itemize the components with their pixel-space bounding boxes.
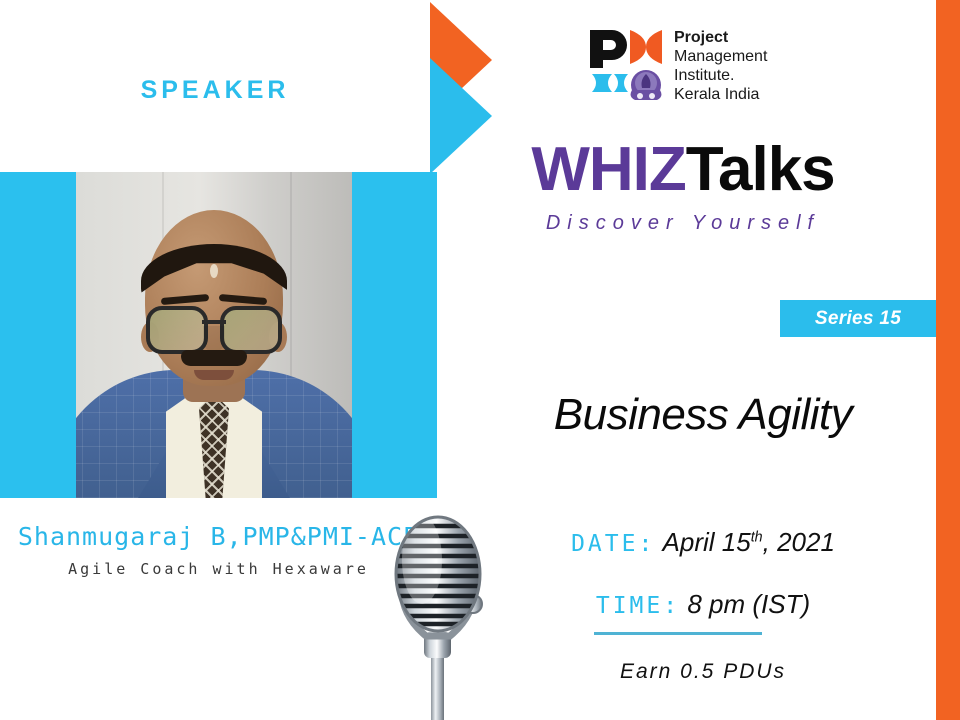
pmi-logo-wordmark: Project Management Institute. Kerala Ind… bbox=[674, 28, 814, 104]
portrait-head bbox=[145, 210, 283, 386]
detail-divider bbox=[594, 632, 762, 635]
brand-tagline: Discover Yourself bbox=[430, 212, 936, 235]
portrait-eyebrow-left bbox=[161, 294, 209, 305]
pmi-logo-mark-icon bbox=[588, 28, 666, 112]
event-time-row: TIME: 8 pm (IST) bbox=[470, 589, 936, 620]
portrait-moustache bbox=[181, 350, 247, 366]
webinar-poster: SPEAKER bbox=[0, 0, 960, 720]
portrait-nose bbox=[203, 326, 225, 352]
date-label: DATE: bbox=[571, 531, 655, 557]
pmi-word-chapter: Kerala India bbox=[674, 85, 814, 104]
speaker-label: SPEAKER bbox=[0, 76, 430, 105]
portrait-eyebrow-right bbox=[219, 294, 267, 305]
brand-title: WHIZTalks bbox=[430, 138, 936, 202]
brand-title-whiz: WHIZ bbox=[531, 135, 685, 204]
pmi-kerala-logo: Project Management Institute. Kerala Ind… bbox=[588, 28, 808, 116]
portrait-forehead-mark bbox=[210, 264, 218, 278]
speaker-name: Shanmugaraj B,PMP&PMI-ACP bbox=[0, 522, 437, 551]
time-label: TIME: bbox=[596, 593, 680, 619]
brand-block: WHIZTalks Discover Yourself bbox=[430, 138, 936, 235]
brand-title-talks: Talks bbox=[686, 135, 835, 204]
pmi-word-management: Management bbox=[674, 47, 814, 66]
portrait-mouth bbox=[194, 370, 234, 380]
date-ordinal: th bbox=[751, 529, 763, 545]
portrait-glasses-bridge bbox=[202, 320, 226, 324]
time-value: 8 pm (IST) bbox=[687, 589, 810, 619]
topic-title: Business Agility bbox=[470, 390, 936, 440]
event-date-row: DATE: April 15th, 2021 bbox=[470, 527, 936, 558]
speaker-role: Agile Coach with Hexaware bbox=[0, 560, 437, 578]
date-value: April 15th, 2021 bbox=[663, 527, 835, 557]
series-badge: Series 15 bbox=[780, 300, 936, 337]
portrait-lens-right bbox=[220, 306, 282, 354]
speaker-photo-panel bbox=[0, 172, 437, 498]
right-accent-stripe bbox=[936, 0, 960, 720]
pdu-note: Earn 0.5 PDUs bbox=[470, 660, 936, 684]
date-month-day: April 15 bbox=[663, 527, 751, 557]
speaker-portrait-photo bbox=[76, 172, 352, 498]
pmi-word-institute: Institute. bbox=[674, 66, 814, 85]
date-year: , 2021 bbox=[763, 527, 835, 557]
pmi-word-project: Project bbox=[674, 28, 814, 47]
portrait-lens-left bbox=[146, 306, 208, 354]
